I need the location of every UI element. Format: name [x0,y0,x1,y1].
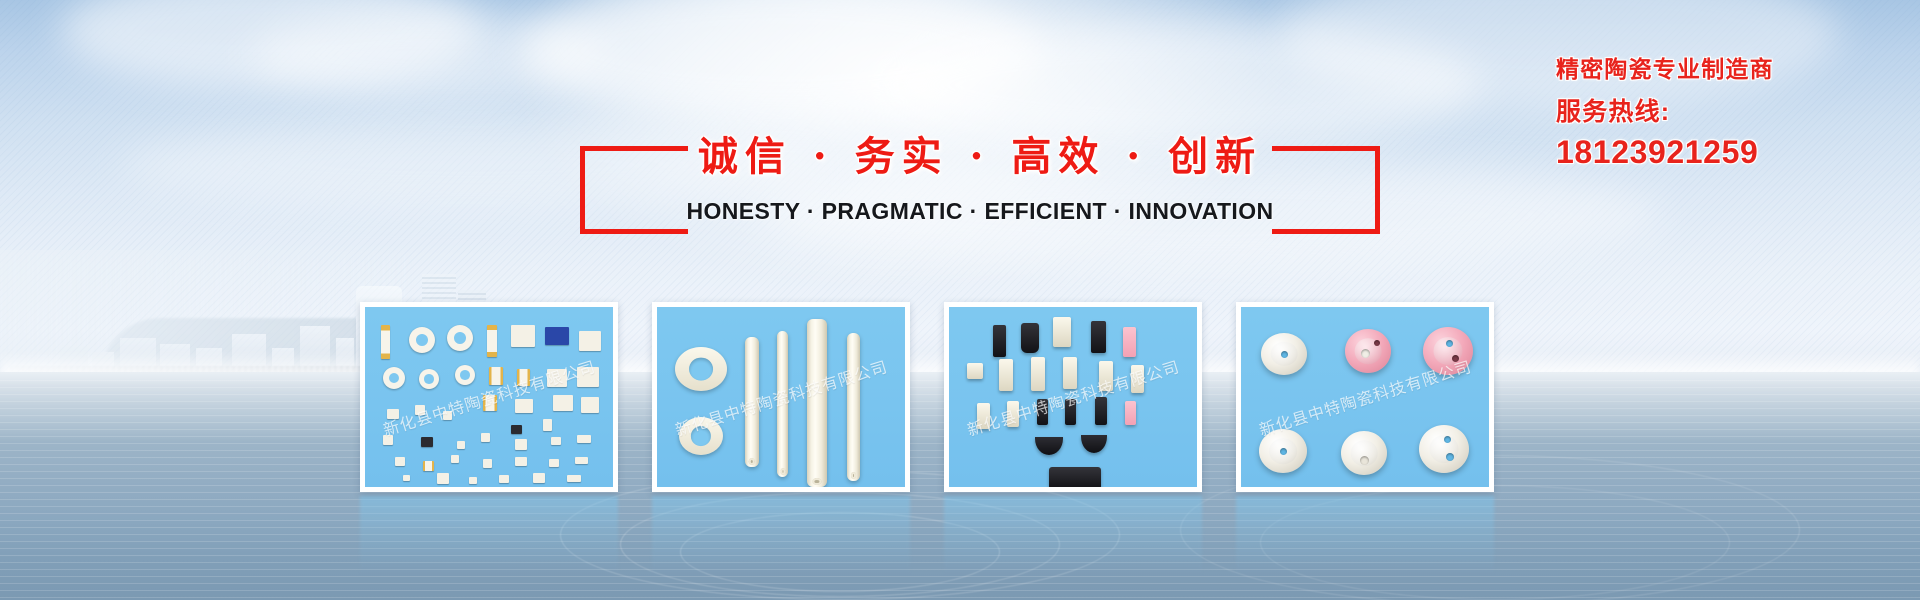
slogan-block: 诚信 · 务实 · 高效 · 创新 HONESTY · PRAGMATIC · … [580,146,1380,234]
product-photo: 新化县中特陶瓷科技有限公司 [949,307,1197,487]
product-photo: 新化县中特陶瓷科技有限公司 [365,307,613,487]
product-photo: 新化县中特陶瓷科技有限公司 [1241,307,1489,487]
product-panel-tubes[interactable]: 新化县中特陶瓷科技有限公司 [652,302,910,492]
product-panel-row: 新化县中特陶瓷科技有限公司 新化县中特陶瓷科技有限公司 [360,302,1600,492]
hotline-phone-number[interactable]: 18123921259 [1556,132,1916,172]
slogan-english: HONESTY · PRAGMATIC · EFFICIENT · INNOVA… [580,198,1380,225]
water-ripple [1260,485,1730,600]
promo-banner: 诚信 · 务实 · 高效 · 创新 HONESTY · PRAGMATIC · … [0,0,1920,600]
slogan-chinese: 诚信 · 务实 · 高效 · 创新 [580,124,1380,182]
hotline-label: 服务热线: [1556,92,1916,132]
product-panel-smd-chips[interactable]: 新化县中特陶瓷科技有限公司 [360,302,618,492]
contact-block: 精密陶瓷专业制造商 服务热线: 18123921259 [1556,52,1916,172]
product-photo: 新化县中特陶瓷科技有限公司 [657,307,905,487]
water-ripple [680,512,1000,592]
product-panel-discs[interactable]: 新化县中特陶瓷科技有限公司 [1236,302,1494,492]
company-tagline: 精密陶瓷专业制造商 [1556,52,1916,86]
product-panel-blocks[interactable]: 新化县中特陶瓷科技有限公司 [944,302,1202,492]
